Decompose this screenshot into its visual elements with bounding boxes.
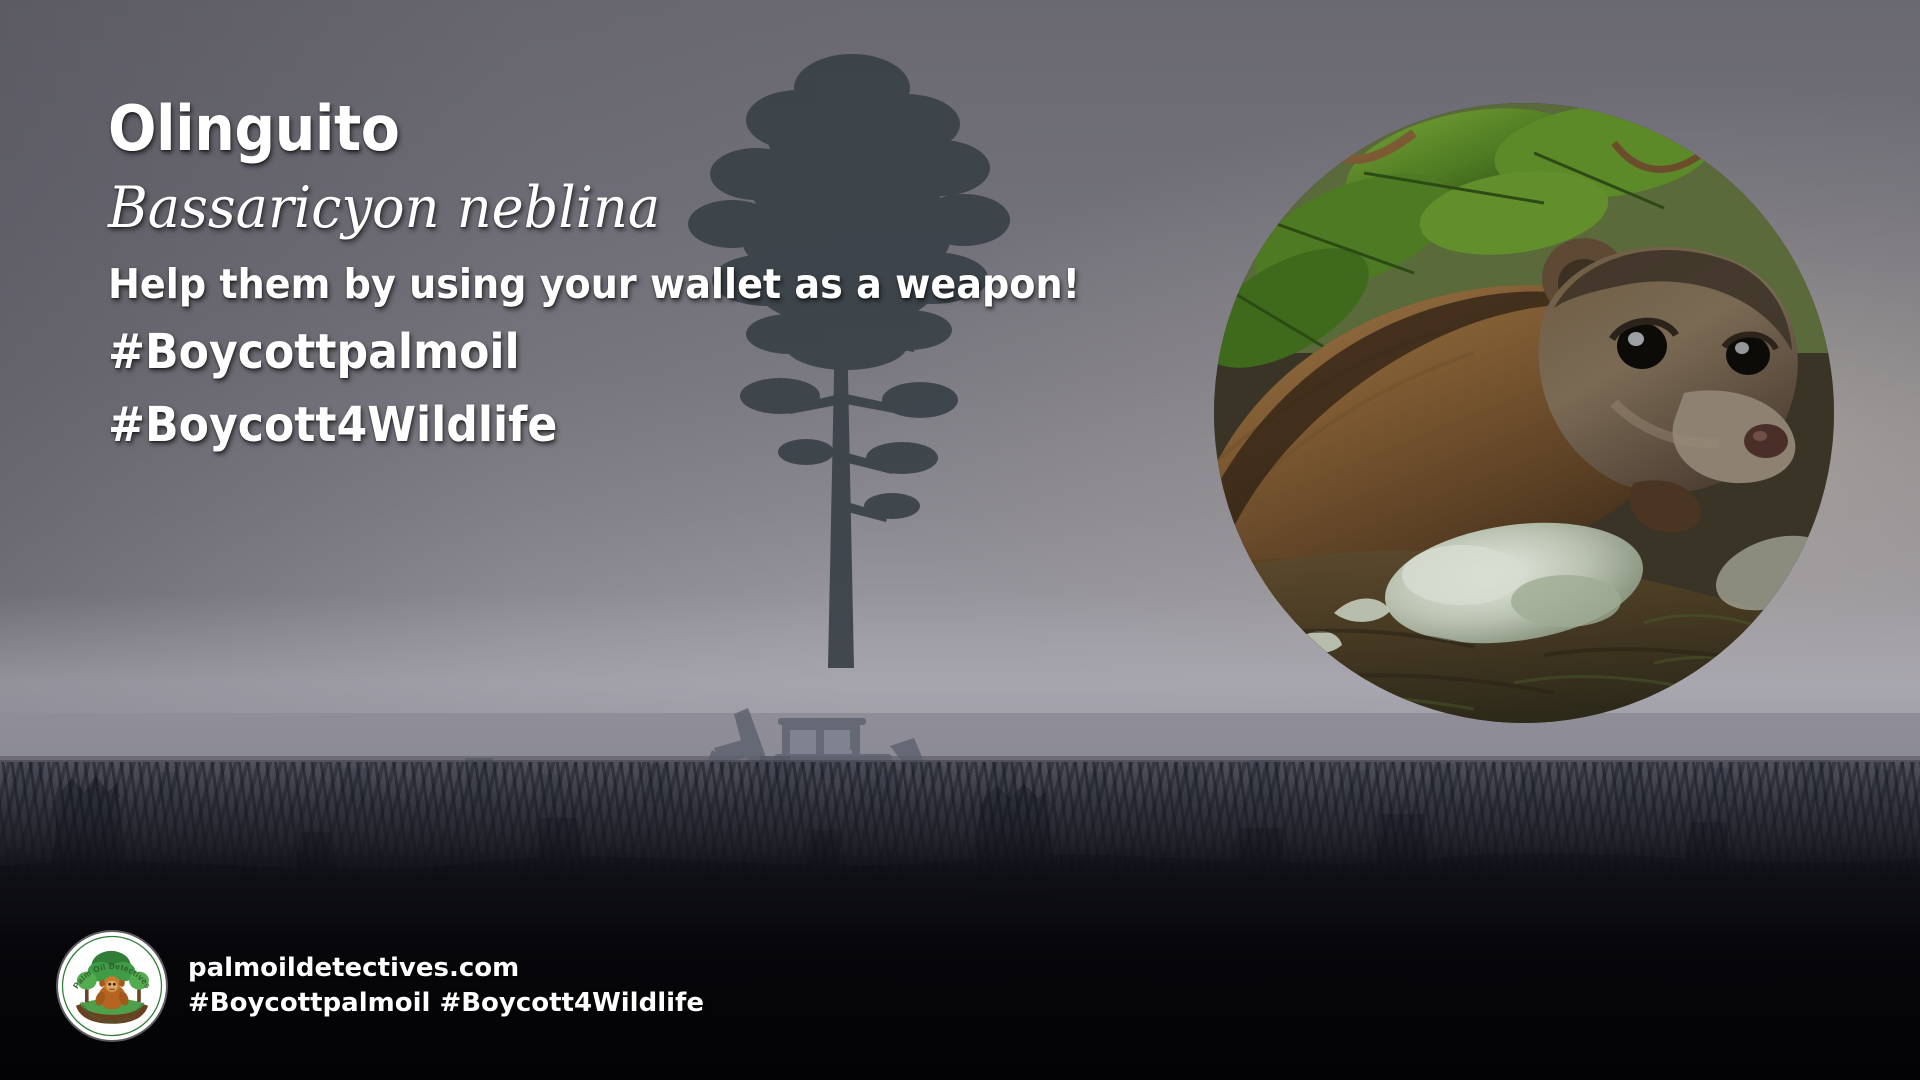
- species-common-name: Olinguito: [108, 96, 1083, 161]
- footer-text-lines: palmoildetectives.com #Boycottpalmoil #B…: [188, 952, 704, 1021]
- olinguito-photo-illustration: [1214, 103, 1834, 723]
- logo-badge-icon: Palm Oil Detectives Empowering consumers…: [58, 932, 166, 1040]
- hashtag-boycott4wildlife: #Boycott4Wildlife: [108, 395, 1083, 456]
- species-photo-circle: [1214, 103, 1834, 723]
- species-scientific-name: Bassaricyon neblina: [108, 175, 1115, 242]
- ground-debris-texture: [0, 762, 1920, 882]
- headline-text-block: Olinguito Bassaricyon neblina Help them …: [108, 96, 1168, 456]
- palm-oil-detectives-logo[interactable]: Palm Oil Detectives Empowering consumers…: [58, 932, 166, 1040]
- footer-branding: Palm Oil Detectives Empowering consumers…: [58, 932, 704, 1040]
- footer-website[interactable]: palmoildetectives.com: [188, 952, 704, 985]
- footer-hashtags: #Boycottpalmoil #Boycott4Wildlife: [188, 987, 704, 1020]
- poster-canvas: Olinguito Bassaricyon neblina Help them …: [0, 0, 1920, 1080]
- hashtag-boycottpalmoil: #Boycottpalmoil: [108, 322, 1083, 383]
- call-to-action-text: Help them by using your wallet as a weap…: [108, 260, 1094, 309]
